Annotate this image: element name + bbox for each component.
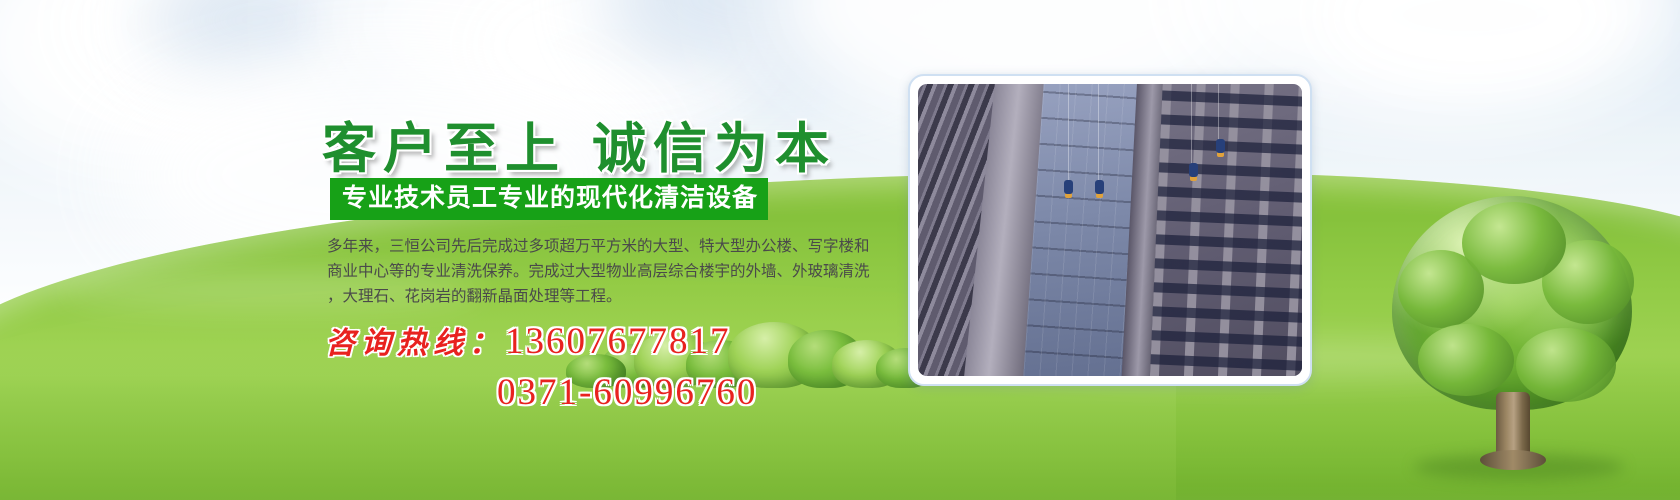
photo-rope [1098,84,1099,183]
page-title: 客户至上诚信为本 [322,104,836,183]
high-rise-facade-cleaning-photo [918,84,1302,376]
banner-copy: 客户至上诚信为本 专业技术员工专业的现代化清洁设备 多年来，三恒公司先后完成过多… [0,0,900,500]
tree-canopy-lobe [1516,328,1616,402]
contact-landline-row: 0371-60996760 [325,371,795,422]
subtitle-bar: 专业技术员工专业的现代化清洁设备 [330,178,768,220]
photo-worker [1095,180,1104,194]
subtitle-text: 专业技术员工专业的现代化清洁设备 [342,183,758,212]
photo-tower-right [1148,84,1302,376]
tree-trunk [1496,392,1530,466]
photo-worker [1064,180,1073,194]
green-tree [1392,196,1632,478]
photo-rope [1191,84,1192,166]
contact-block: 咨询热线：13607677817 0371-60996760 [325,320,795,422]
headline-part-1: 客户至上 [322,119,566,179]
hotline-landline-number[interactable]: 0371-60996760 [497,372,757,413]
photo-rope [1068,84,1069,183]
promo-banner: 客户至上诚信为本 专业技术员工专业的现代化清洁设备 多年来，三恒公司先后完成过多… [0,0,1680,500]
contact-hotline-row: 咨询热线：13607677817 [325,320,795,371]
headline-part-2: 诚信为本 [592,119,836,179]
photo-worker [1189,163,1198,177]
building-photo-frame [908,74,1312,386]
description-line-3: ，大理石、花岗岩的翻新晶面处理等工程。 [327,284,883,309]
photo-worker [1216,139,1225,153]
hotline-mobile-number[interactable]: 13607677817 [505,321,731,362]
description-line-2: 商业中心等的专业清洗保养。完成过大型物业高层综合楼宇的外墙、外玻璃清洗 [327,259,883,284]
tree-canopy-lobe [1418,324,1514,396]
tree-canopy-lobe [1462,202,1566,284]
photo-rope [1218,84,1219,142]
hotline-label: 咨询热线： [325,326,505,361]
description-paragraph: 多年来，三恒公司先后完成过多项超万平方米的大型、特大型办公楼、写字楼和 商业中心… [327,234,883,309]
description-line-1: 多年来，三恒公司先后完成过多项超万平方米的大型、特大型办公楼、写字楼和 [327,234,883,259]
